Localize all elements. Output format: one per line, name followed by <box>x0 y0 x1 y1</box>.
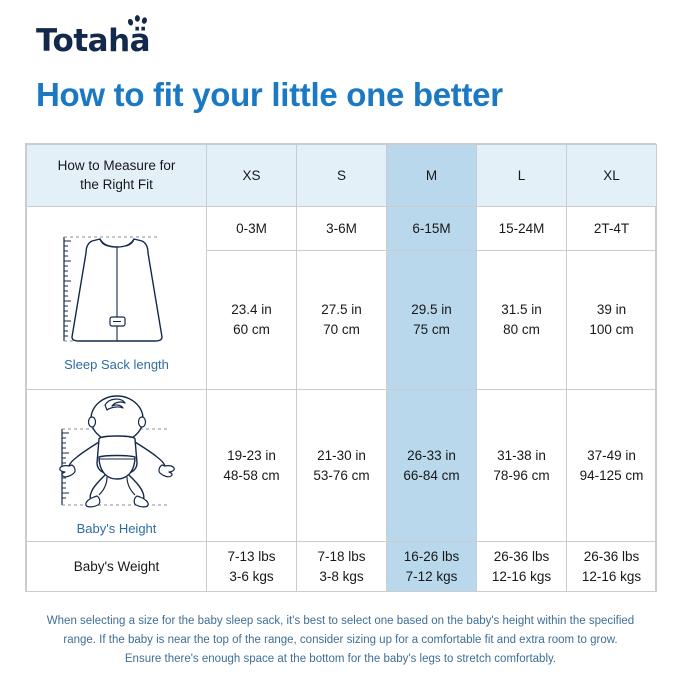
cell-height-xl-cm: 94-125 cm <box>567 466 656 486</box>
cell-length-m-in: 29.5 in <box>387 300 476 320</box>
cell-height-m-cm: 66-84 cm <box>387 466 476 486</box>
cell-weight-l-kgs: 12-16 kgs <box>477 567 566 587</box>
cell-weight-s-lbs: 7-18 lbs <box>297 547 386 567</box>
paw-print-icon <box>125 15 151 27</box>
cell-height-xl: 37-49 in 94-125 cm <box>567 390 657 542</box>
cell-height-l: 31-38 in 78-96 cm <box>477 390 567 542</box>
header-size-m[interactable]: M <box>387 145 477 207</box>
baby-weight-label: Baby's Weight <box>27 542 207 592</box>
cell-length-l-in: 31.5 in <box>477 300 566 320</box>
brand-logo: Totahä <box>36 26 150 57</box>
header-measure-line1: How to Measure for <box>27 157 206 175</box>
cell-weight-m-lbs: 16-26 lbs <box>387 547 476 567</box>
cell-height-xs: 19-23 in 48-58 cm <box>207 390 297 542</box>
cell-weight-s: 7-18 lbs 3-8 kgs <box>297 542 387 592</box>
cell-height-xs-in: 19-23 in <box>207 446 296 466</box>
cell-weight-xs-lbs: 7-13 lbs <box>207 547 296 567</box>
sleep-sack-illustration <box>42 225 192 353</box>
cell-age-xs: 0-3M <box>207 207 297 251</box>
cell-age-m: 6-15M <box>387 207 477 251</box>
cell-length-xs-in: 23.4 in <box>207 300 296 320</box>
size-chart-page: Totahä How to fit your little one better… <box>0 0 679 679</box>
brand-name: Totahä <box>36 23 150 59</box>
header-size-l[interactable]: L <box>477 145 567 207</box>
cell-weight-xl: 26-36 lbs 12-16 kgs <box>567 542 657 592</box>
table-header-row: How to Measure for the Right Fit XS S M … <box>27 145 657 207</box>
page-title: How to fit your little one better <box>36 76 503 114</box>
cell-weight-xs-kgs: 3-6 kgs <box>207 567 296 587</box>
header-size-s[interactable]: S <box>297 145 387 207</box>
cell-age-s: 3-6M <box>297 207 387 251</box>
cell-weight-xl-lbs: 26-36 lbs <box>567 547 656 567</box>
cell-weight-l: 26-36 lbs 12-16 kgs <box>477 542 567 592</box>
cell-height-m-in: 26-33 in <box>387 446 476 466</box>
cell-height-xl-in: 37-49 in <box>567 446 656 466</box>
cell-height-l-cm: 78-96 cm <box>477 466 566 486</box>
cell-length-m-cm: 75 cm <box>387 320 476 340</box>
cell-weight-l-lbs: 26-36 lbs <box>477 547 566 567</box>
cell-age-l: 15-24M <box>477 207 567 251</box>
cell-length-xs-cm: 60 cm <box>207 320 296 340</box>
cell-height-s: 21-30 in 53-76 cm <box>297 390 387 542</box>
cell-weight-s-kgs: 3-8 kgs <box>297 567 386 587</box>
cell-length-xl-cm: 100 cm <box>567 320 656 340</box>
header-size-xl[interactable]: XL <box>567 145 657 207</box>
header-size-xs[interactable]: XS <box>207 145 297 207</box>
cell-height-xs-cm: 48-58 cm <box>207 466 296 486</box>
baby-illustration-label: Baby's Height <box>77 521 157 536</box>
cell-length-s: 27.5 in 70 cm <box>297 251 387 390</box>
cell-weight-m: 16-26 lbs 7-12 kgs <box>387 542 477 592</box>
sizing-note-line1: When selecting a size for the baby sleep… <box>25 612 656 631</box>
sizing-note: When selecting a size for the baby sleep… <box>25 612 656 669</box>
sizing-note-line3: Ensure there's enough space at the botto… <box>25 650 656 669</box>
header-measure-label: How to Measure for the Right Fit <box>27 145 207 207</box>
cell-length-s-cm: 70 cm <box>297 320 386 340</box>
size-chart-table-wrapper: How to Measure for the Right Fit XS S M … <box>25 143 656 592</box>
table-row-baby-weight: Baby's Weight 7-13 lbs 3-6 kgs 7-18 lbs … <box>27 542 657 592</box>
cell-length-xl-in: 39 in <box>567 300 656 320</box>
cell-age-xl: 2T-4T <box>567 207 657 251</box>
cell-length-l-cm: 80 cm <box>477 320 566 340</box>
cell-height-s-in: 21-30 in <box>297 446 386 466</box>
cell-weight-m-kgs: 7-12 kgs <box>387 567 476 587</box>
cell-weight-xl-kgs: 12-16 kgs <box>567 567 656 587</box>
cell-weight-xs: 7-13 lbs 3-6 kgs <box>207 542 297 592</box>
cell-height-m: 26-33 in 66-84 cm <box>387 390 477 542</box>
size-chart-table: How to Measure for the Right Fit XS S M … <box>26 144 657 592</box>
table-row-age: Sleep Sack length 0-3M 3-6M 6-15M 15-24M… <box>27 207 657 251</box>
cell-length-xl: 39 in 100 cm <box>567 251 657 390</box>
cell-height-l-in: 31-38 in <box>477 446 566 466</box>
cell-length-l: 31.5 in 80 cm <box>477 251 567 390</box>
sleep-sack-illustration-label: Sleep Sack length <box>64 357 169 372</box>
cell-length-s-in: 27.5 in <box>297 300 386 320</box>
baby-illustration-cell: Baby's Height <box>27 390 207 542</box>
baby-illustration <box>37 395 197 517</box>
sleep-sack-illustration-cell: Sleep Sack length <box>27 207 207 390</box>
cell-height-s-cm: 53-76 cm <box>297 466 386 486</box>
header-measure-line2: the Right Fit <box>27 176 206 194</box>
sizing-note-line2: range. If the baby is near the top of th… <box>25 631 656 650</box>
table-row-baby-height: Baby's Height 19-23 in 48-58 cm 21-30 in… <box>27 390 657 542</box>
cell-length-xs: 23.4 in 60 cm <box>207 251 297 390</box>
cell-length-m: 29.5 in 75 cm <box>387 251 477 390</box>
